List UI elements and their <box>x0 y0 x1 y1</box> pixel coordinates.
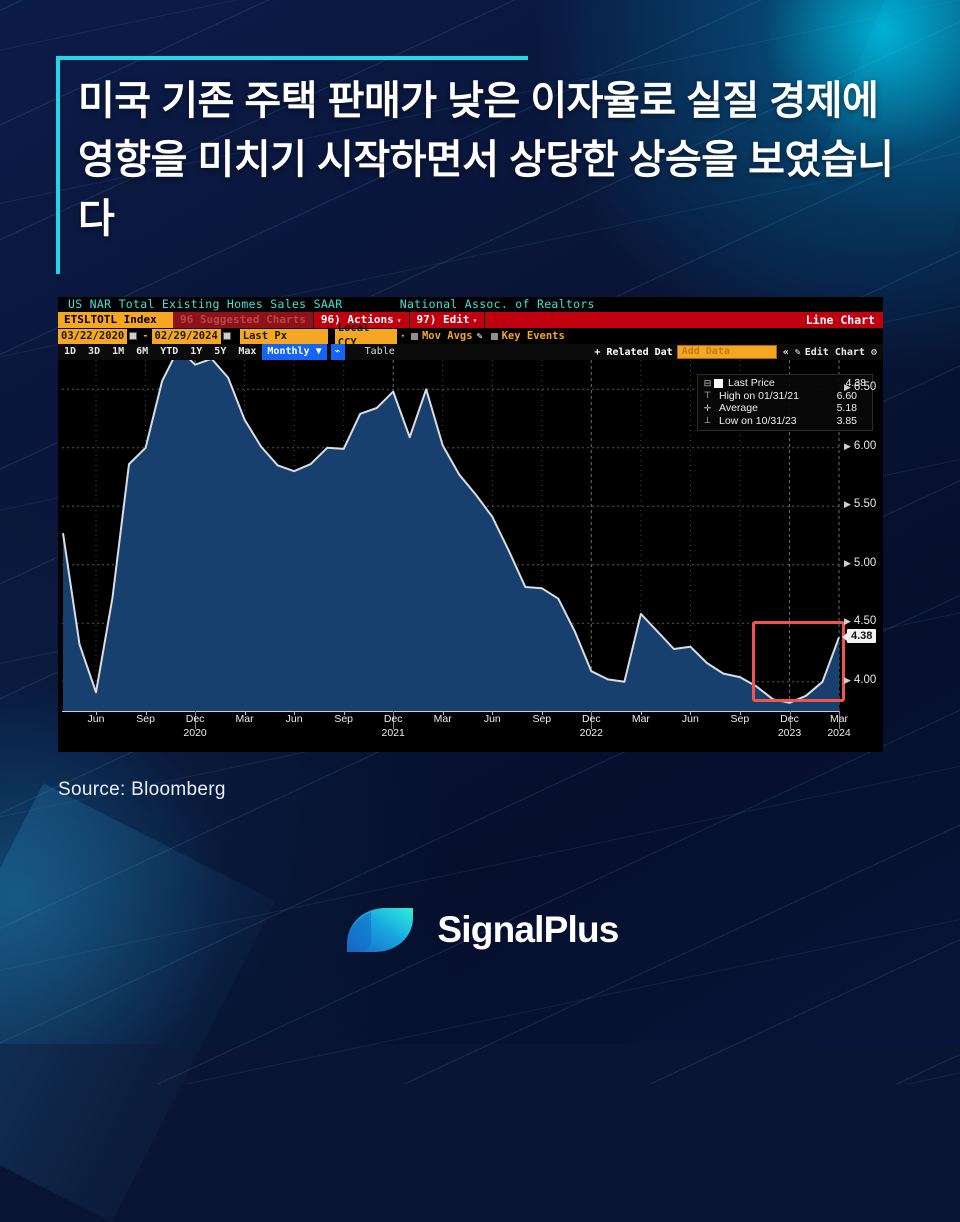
chevron-down-icon: ▾ <box>397 316 402 325</box>
x-axis-label: Mar <box>236 713 254 725</box>
headline-accent-top-rule <box>56 56 528 60</box>
y-axis-tick: ▶5.50 <box>844 498 876 510</box>
legend-label: Low on 10/31/23 <box>719 415 827 427</box>
low-marker-icon: ⊥ <box>701 415 714 426</box>
collapse-icon[interactable]: « <box>783 347 789 358</box>
brand-name: SignalPlus <box>437 909 618 951</box>
high-marker-icon: ⊤ <box>701 390 714 401</box>
date-range-dash: - <box>139 330 151 342</box>
x-axis: JunSepDec2020MarJunSepDec2021MarJunSepDe… <box>62 711 840 733</box>
x-axis-label: Jun <box>484 713 501 725</box>
y-axis: ▶4.00▶4.50▶5.00▶5.50▶6.00▶6.504.38 <box>844 360 883 711</box>
gear-icon[interactable]: ⚙ <box>871 347 877 358</box>
chevron-down-icon[interactable]: ▾ <box>401 332 405 340</box>
last-price-callout: 4.38 <box>847 629 876 643</box>
headline-block: 미국 기존 주택 판매가 낮은 이자율로 실질 경제에 영향을 미치기 시작하면… <box>56 48 906 248</box>
terminal-timeframe-row: 1D 3D 1M 6M YTD 1Y 5Y Max Monthly ▼ ⌁ Ta… <box>58 344 883 360</box>
brand-logo: SignalPlus <box>0 900 960 960</box>
x-axis-label: Sep <box>731 713 750 725</box>
square-icon <box>714 379 723 388</box>
add-data-input[interactable]: Add Data <box>677 345 777 359</box>
timeframe-1y[interactable]: 1Y <box>184 344 208 360</box>
security-title: US NAR Total Existing Homes Sales SAAR <box>68 297 343 311</box>
x-axis-label: Dec <box>780 713 799 725</box>
source-label: Source: Bloomberg <box>58 779 226 801</box>
legend-row: ⊥ Low on 10/31/23 3.85 <box>701 415 866 428</box>
x-axis-label: Jun <box>682 713 699 725</box>
average-marker-icon: ✛ <box>701 403 714 414</box>
legend-label: Last Price <box>728 377 836 389</box>
date-from-field[interactable]: 03/22/2020 <box>58 329 127 344</box>
legend-row: ✛ Average 5.18 <box>701 402 866 415</box>
mov-avgs-toggle[interactable]: Mov Avgs ✎ <box>411 330 487 342</box>
y-axis-tick: ▶6.50 <box>844 381 876 393</box>
x-axis-year-label: 2024 <box>827 727 850 739</box>
legend-row: ⊟ Last Price 4.38 <box>701 377 866 390</box>
mov-avgs-label: Mov Avgs <box>422 330 473 342</box>
period-label: Monthly <box>267 346 309 357</box>
x-axis-label: Jun <box>286 713 303 725</box>
legend-row: ⊤ High on 01/31/21 6.60 <box>701 390 866 403</box>
checkbox-icon <box>491 333 498 340</box>
legend-label: Average <box>719 402 827 414</box>
edit-chart-button[interactable]: Edit Chart <box>805 347 865 358</box>
page-title: 미국 기존 주택 판매가 낮은 이자율로 실질 경제에 영향을 미치기 시작하면… <box>56 48 906 248</box>
x-axis-label: Mar <box>434 713 452 725</box>
signalplus-mark-icon <box>341 900 419 960</box>
x-axis-label: Sep <box>532 713 551 725</box>
edit-menu-button[interactable]: 97) Edit▾ <box>409 312 485 328</box>
pencil-icon[interactable]: ✎ <box>477 331 483 342</box>
price-field-select[interactable]: Last Px <box>240 329 328 344</box>
x-axis-year-label: 2020 <box>183 727 206 739</box>
table-button[interactable]: Table <box>359 344 401 360</box>
chevron-down-icon: ▼ <box>316 346 322 357</box>
related-data-button[interactable]: + Related Dat <box>594 347 672 358</box>
y-axis-tick: ▶4.00 <box>844 674 876 686</box>
timeframe-1m[interactable]: 1M <box>106 344 130 360</box>
x-axis-label: Mar <box>830 713 848 725</box>
expand-icon[interactable]: ⊟ <box>701 378 714 389</box>
terminal-settings-row: 03/22/2020 - 02/29/2024 Last Px Local CC… <box>58 328 883 344</box>
terminal-command-row: ETSLTOTL Index 96 Suggested Charts 96) A… <box>58 312 883 328</box>
checkbox-icon <box>411 333 418 340</box>
x-axis-year-label: 2023 <box>778 727 801 739</box>
x-axis-line <box>62 711 840 712</box>
x-axis-year-label: 2021 <box>382 727 405 739</box>
timeframe-5y[interactable]: 5Y <box>208 344 232 360</box>
x-axis-label: Sep <box>334 713 353 725</box>
x-axis-label: Dec <box>186 713 205 725</box>
chart-style-icon[interactable]: ⌁ <box>331 344 345 360</box>
timeframe-3d[interactable]: 3D <box>82 344 106 360</box>
x-axis-label: Jun <box>88 713 105 725</box>
calendar-icon[interactable] <box>129 332 137 340</box>
legend-label: High on 01/31/21 <box>719 390 827 402</box>
chart-type-label: Line Chart <box>484 312 883 328</box>
terminal-security-header: US NAR Total Existing Homes Sales SAAR N… <box>58 297 883 312</box>
key-events-toggle[interactable]: Key Events <box>491 330 565 342</box>
pencil-icon[interactable]: ✎ <box>795 347 801 358</box>
bloomberg-terminal-panel: US NAR Total Existing Homes Sales SAAR N… <box>58 297 883 752</box>
y-axis-tick: ▶5.00 <box>844 557 876 569</box>
x-axis-label: Mar <box>632 713 650 725</box>
calendar-icon[interactable] <box>223 332 231 340</box>
timeframe-max[interactable]: Max <box>232 344 262 360</box>
edit-label: 97) Edit <box>417 313 470 326</box>
red-highlight-box <box>752 621 845 702</box>
ticker-field[interactable]: ETSLTOTL Index <box>58 312 173 328</box>
timeframe-1d[interactable]: 1D <box>58 344 82 360</box>
date-to-field[interactable]: 02/29/2024 <box>152 329 221 344</box>
suggested-charts-button[interactable]: 96 Suggested Charts <box>173 312 313 328</box>
chart-body: ✥ Track ╱ Annotate ☰ News ⌕ Zoom ⊟ Last … <box>58 360 883 733</box>
chevron-down-icon: ▾ <box>473 316 478 325</box>
y-axis-tick: ▶6.00 <box>844 440 876 452</box>
currency-select[interactable]: Local CCY <box>335 329 397 344</box>
x-axis-year-label: 2022 <box>580 727 603 739</box>
key-events-label: Key Events <box>502 330 565 342</box>
timeframe-6m[interactable]: 6M <box>130 344 154 360</box>
headline-accent-rule <box>56 56 60 274</box>
x-axis-label: Dec <box>384 713 403 725</box>
timeframe-ytd[interactable]: YTD <box>154 344 184 360</box>
x-axis-label: Dec <box>582 713 601 725</box>
security-source: National Assoc. of Realtors <box>400 297 595 311</box>
period-select[interactable]: Monthly ▼ <box>262 344 326 360</box>
x-axis-label: Sep <box>136 713 155 725</box>
y-axis-tick: ▶4.50 <box>844 615 876 627</box>
